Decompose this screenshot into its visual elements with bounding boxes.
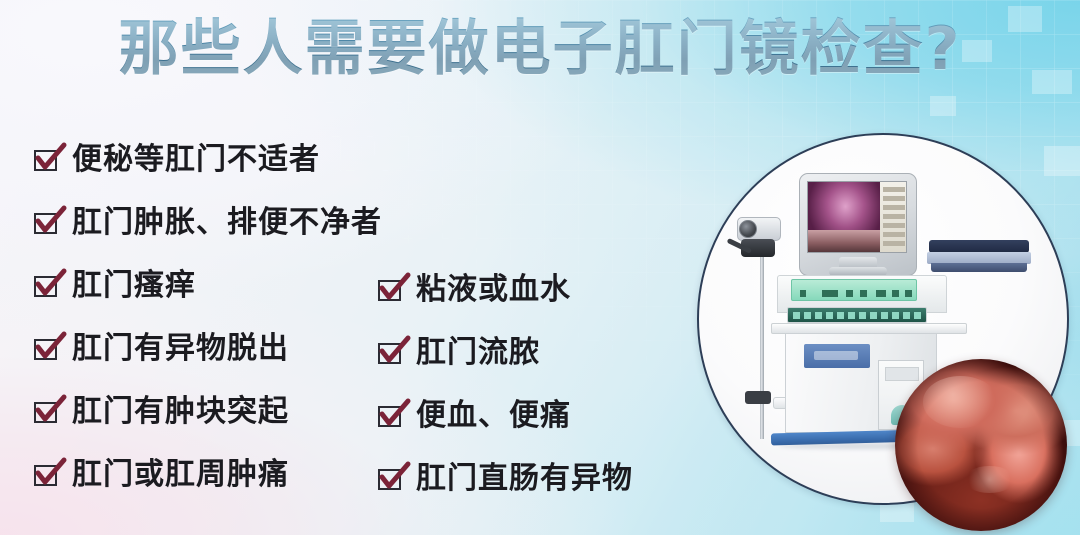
list-item-label: 肛门或肛周肿痛 xyxy=(72,460,289,490)
checkbox-checked-icon xyxy=(378,280,404,302)
checkbox-checked-icon xyxy=(378,343,404,365)
green-control-panel xyxy=(791,279,917,301)
list-item: 肛门肿胀、排便不净者 xyxy=(34,191,414,254)
checkbox-checked-icon xyxy=(34,465,60,487)
list-item-label: 肛门肿胀、排便不净者 xyxy=(72,208,382,238)
list-item-label: 粘液或血水 xyxy=(416,275,571,305)
list-item-label: 肛门流脓 xyxy=(416,338,540,368)
list-item: 便血、便痛 xyxy=(378,384,708,447)
list-item: 粘液或血水 xyxy=(378,258,708,321)
list-item-label: 便血、便痛 xyxy=(416,401,571,431)
list-item: 肛门有异物脱出 xyxy=(34,317,414,380)
checklist-right-column: 粘液或血水 肛门流脓 便血、便痛 肛门直肠有异物 xyxy=(378,258,708,510)
list-item: 肛门有肿块突起 xyxy=(34,380,414,443)
list-item-label: 肛门有肿块突起 xyxy=(72,397,289,427)
checkbox-checked-icon xyxy=(378,469,404,491)
checkbox-checked-icon xyxy=(34,213,60,235)
medical-display-monitor xyxy=(799,173,917,276)
page-title: 那些人需要做电子肛门镜检查? xyxy=(119,16,962,82)
list-item: 便秘等肛门不适者 xyxy=(34,128,414,191)
list-item-label: 肛门有异物脱出 xyxy=(72,334,289,364)
list-item: 肛门或肛周肿痛 xyxy=(34,443,414,506)
checkbox-checked-icon xyxy=(34,150,60,172)
report-printer xyxy=(927,240,1031,274)
list-item: 肛门流脓 xyxy=(378,321,708,384)
poster-title-bar: 那些人需要做电子肛门镜检查? xyxy=(0,16,1080,82)
list-item-label: 肛门直肠有异物 xyxy=(416,464,633,494)
photo-alt-text: 电子肛门镜检查设备 xyxy=(699,135,700,136)
list-item-label: 肛门瘙痒 xyxy=(72,271,196,301)
list-item: 肛门直肠有异物 xyxy=(378,447,708,510)
checklist-left-column: 便秘等肛门不适者 肛门肿胀、排便不净者 肛门瘙痒 肛门有异物脱出 xyxy=(34,128,414,506)
checkbox-checked-icon xyxy=(34,276,60,298)
checkbox-checked-icon xyxy=(378,406,404,428)
console-keyboard xyxy=(787,307,927,323)
list-item: 肛门瘙痒 xyxy=(34,254,414,317)
infographic-poster: 那些人需要做电子肛门镜检查? 便秘等肛门不适者 肛门肿胀、排便不净者 肛门瘙痒 xyxy=(0,0,1080,535)
checkbox-checked-icon xyxy=(34,402,60,424)
list-item-label: 便秘等肛门不适者 xyxy=(72,145,320,175)
endoscopic-view-photo: 肛门镜下病灶影像 xyxy=(895,359,1067,531)
checkbox-checked-icon xyxy=(34,339,60,361)
